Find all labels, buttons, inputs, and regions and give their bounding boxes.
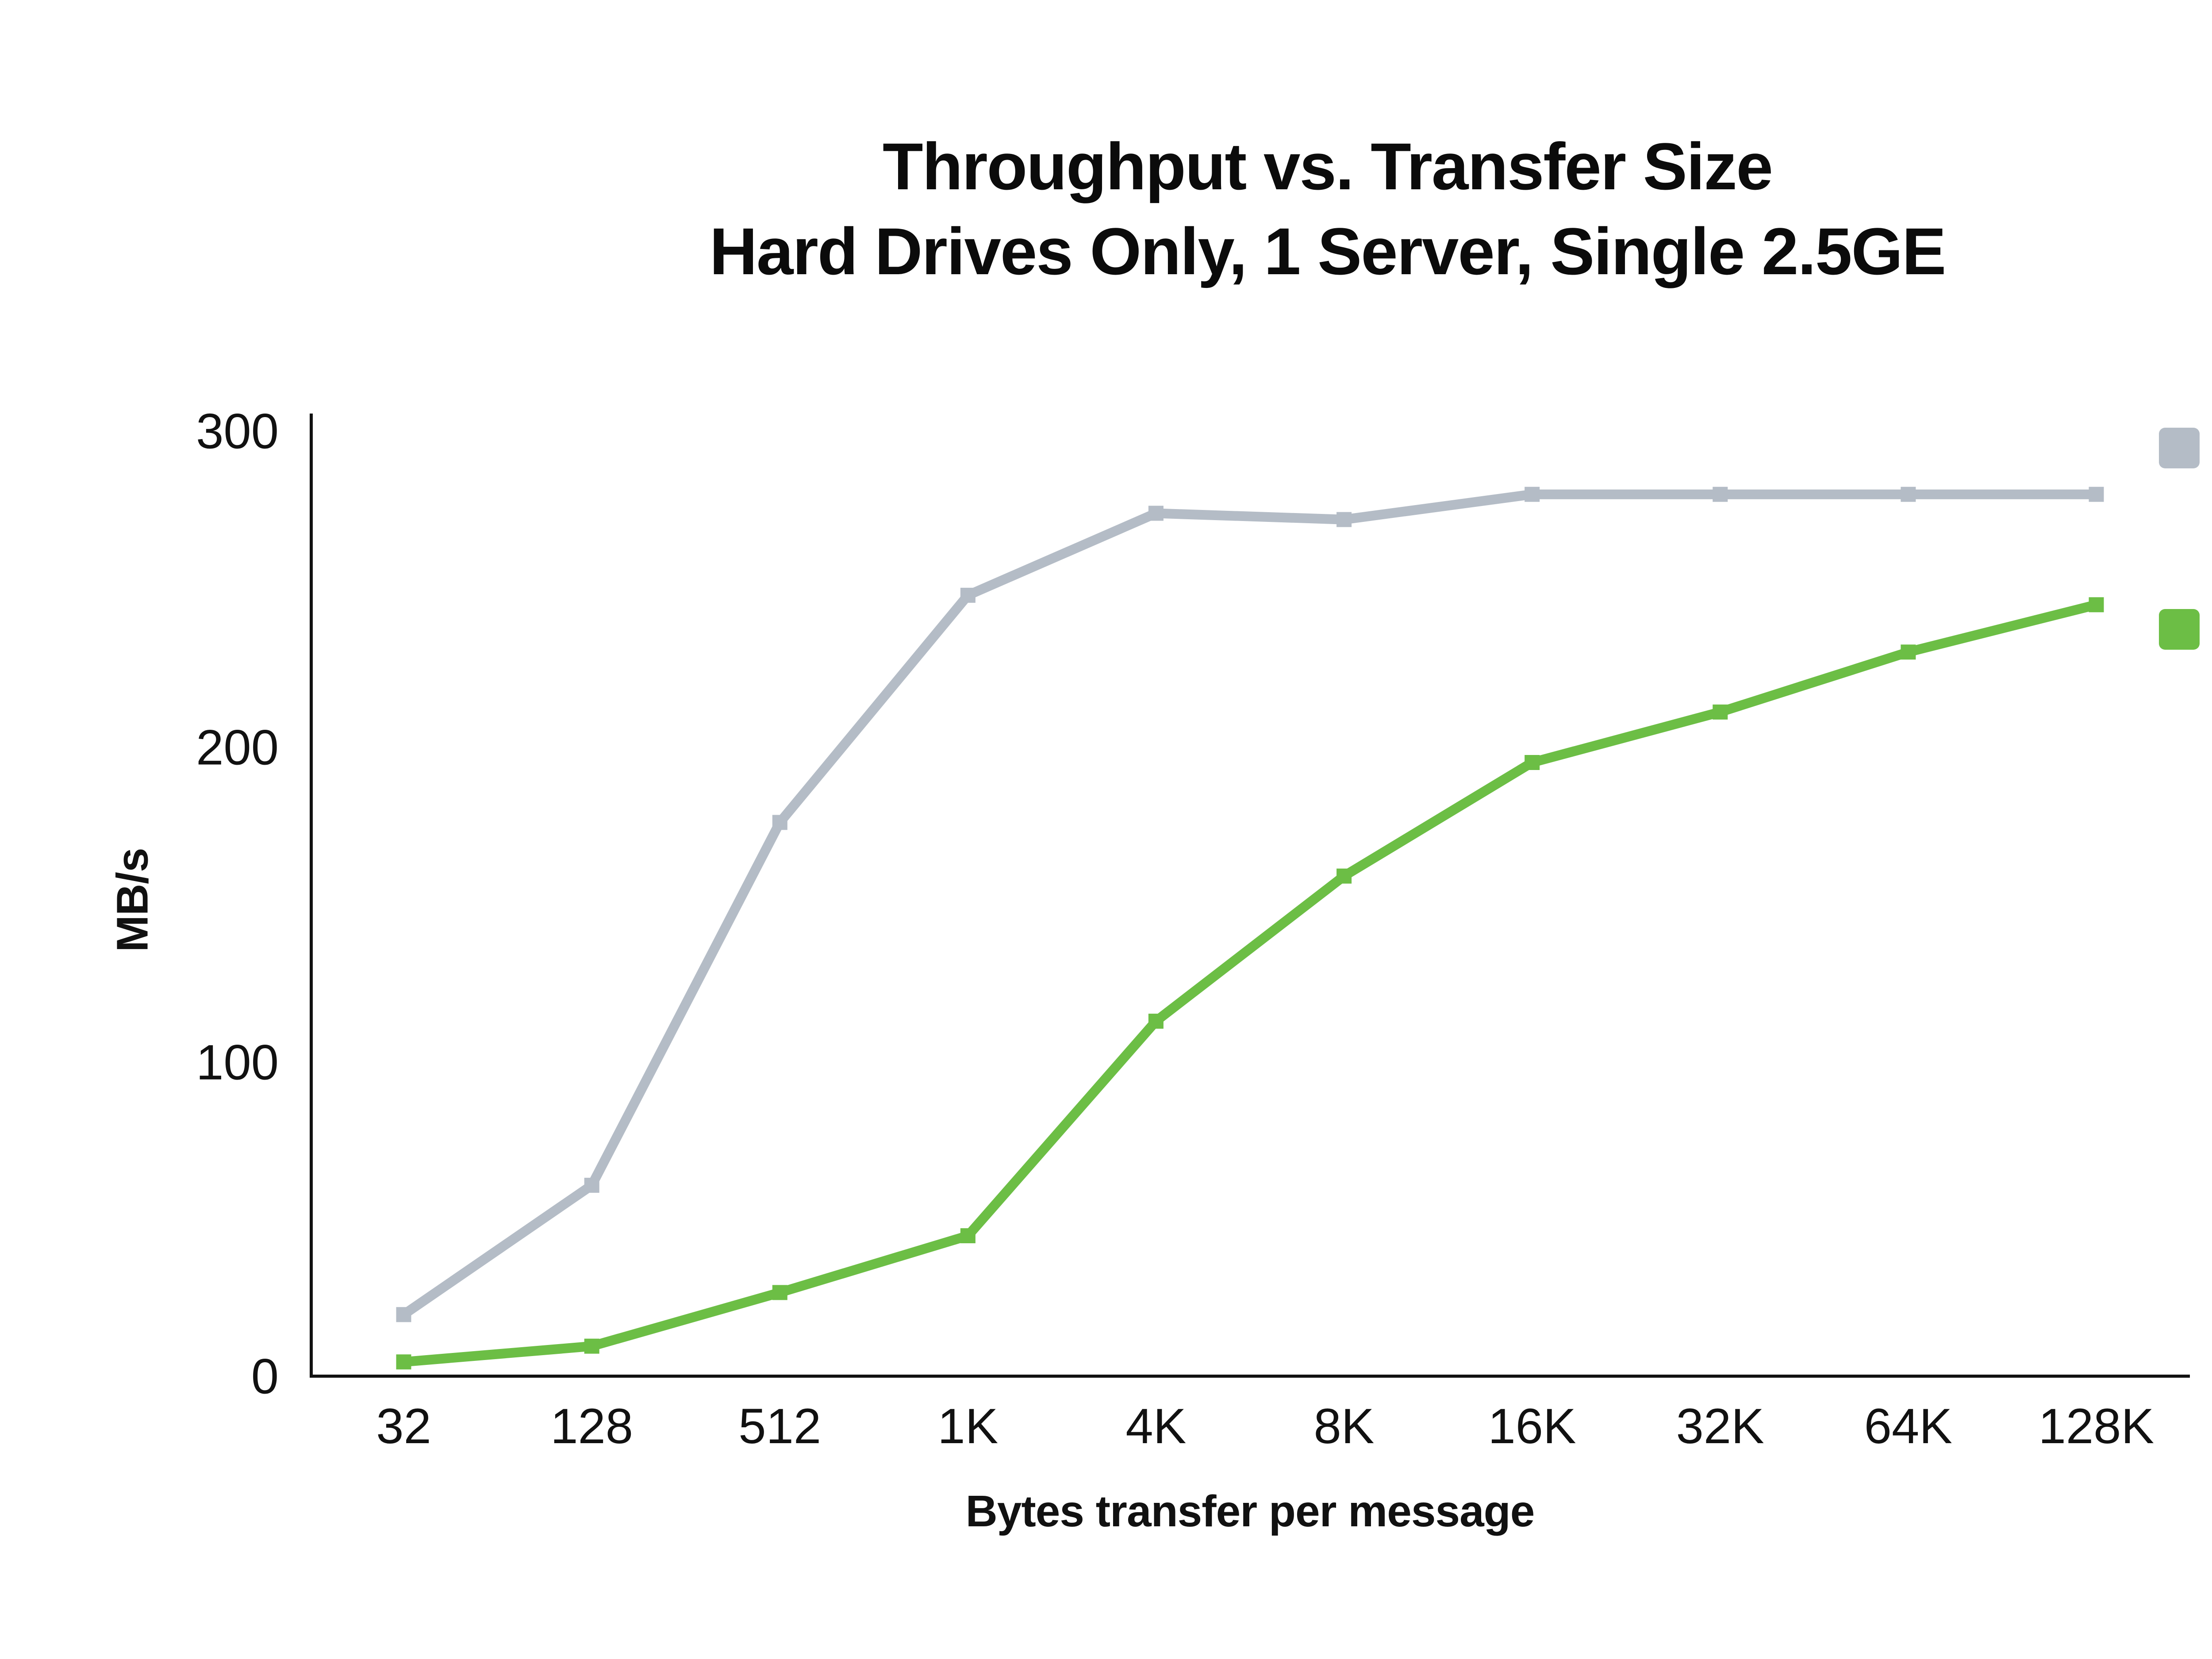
y-tick-0: 0 xyxy=(146,1348,279,1405)
legend-swatch-publish xyxy=(2159,609,2200,650)
x-tick-128k: 128K xyxy=(2002,1398,2190,1455)
x-axis-spine xyxy=(310,1375,2190,1378)
legend-item-subscribe[interactable]: Subscribe xyxy=(2159,422,2212,473)
chart-legend: Subscribe Publish xyxy=(2159,422,2212,785)
x-tick-1k: 1K xyxy=(874,1398,1062,1455)
x-tick-128: 128 xyxy=(498,1398,686,1455)
chart-container: Throughput vs. Transfer Size Hard Drives… xyxy=(0,0,2212,1659)
y-tick-100: 100 xyxy=(146,1034,279,1091)
chart-title-line-2: Hard Drives Only, 1 Server, Single 2.5GE xyxy=(0,209,2212,294)
chart-title-line-1: Throughput vs. Transfer Size xyxy=(0,124,2212,209)
x-tick-32: 32 xyxy=(310,1398,498,1455)
y-axis-title: MB/s xyxy=(108,848,158,952)
x-tick-16k: 16K xyxy=(1438,1398,1626,1455)
y-axis-spine xyxy=(310,414,313,1378)
y-tick-300: 300 xyxy=(146,403,279,460)
x-tick-labels: 32 128 512 1K 4K 8K 16K 32K 64K 128K xyxy=(310,1398,2190,1455)
x-tick-32k: 32K xyxy=(1626,1398,1814,1455)
legend-item-publish[interactable]: Publish xyxy=(2159,604,2212,655)
legend-swatch-subscribe xyxy=(2159,428,2200,468)
x-axis-title: Bytes transfer per message xyxy=(310,1486,2190,1537)
x-tick-64k: 64K xyxy=(1814,1398,2002,1455)
x-tick-4k: 4K xyxy=(1062,1398,1250,1455)
x-tick-8k: 8K xyxy=(1250,1398,1438,1455)
plot-area xyxy=(310,414,2190,1378)
chart-title: Throughput vs. Transfer Size Hard Drives… xyxy=(0,124,2212,294)
x-tick-512: 512 xyxy=(686,1398,874,1455)
y-tick-200: 200 xyxy=(146,719,279,776)
